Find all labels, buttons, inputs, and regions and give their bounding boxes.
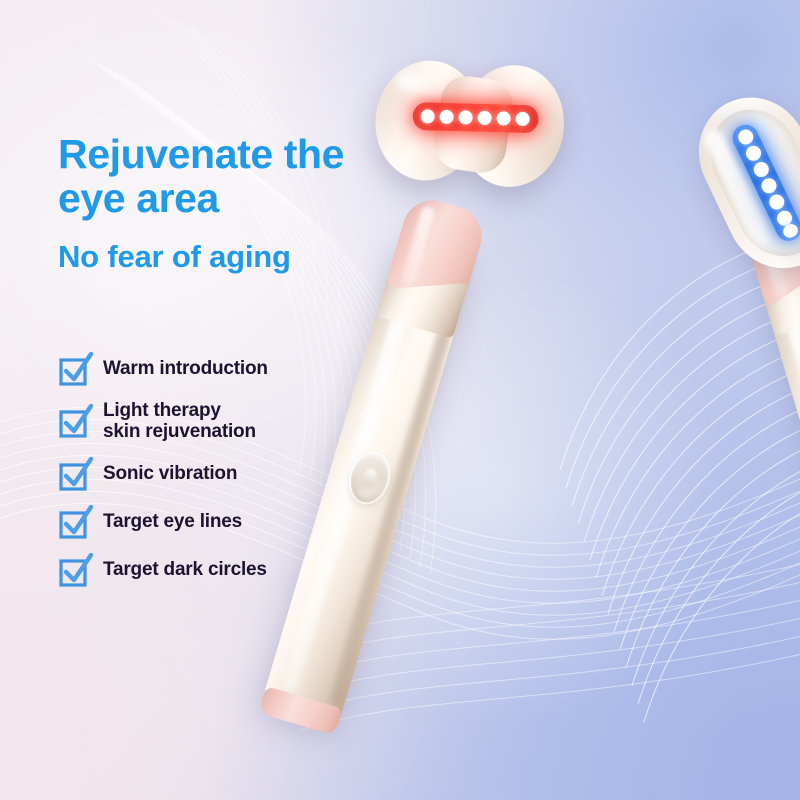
checkbox-check-icon [58,457,92,491]
feature-list: Warm introduction Light therapy skin rej… [58,352,388,601]
red-led [515,112,529,126]
list-item: Warm introduction [58,352,388,386]
list-item: Light therapy skin rejuvenation [58,400,388,443]
checkbox-check-icon [58,553,92,587]
red-led [439,110,453,124]
red-led [420,109,434,123]
page-subheadline: No fear of aging [58,240,418,274]
checkbox-check-icon [58,404,92,438]
red-led [477,111,491,125]
red-led-row [412,102,539,133]
list-item-label: Light therapy skin rejuvenation [103,400,256,443]
list-item-label: Warm introduction [103,358,268,379]
promo-banner: Rejuvenate the eye area No fear of aging… [0,0,800,800]
checkbox-check-icon [58,505,92,539]
list-item: Target eye lines [58,505,388,539]
red-led [458,110,472,124]
page-headline: Rejuvenate the eye area [58,133,398,221]
list-item: Sonic vibration [58,457,388,491]
list-item-label: Sonic vibration [103,463,237,484]
list-item-label: Target dark circles [103,559,267,580]
red-led [496,111,510,125]
list-item-label: Target eye lines [103,511,242,532]
checkbox-check-icon [58,352,92,386]
list-item: Target dark circles [58,553,388,587]
